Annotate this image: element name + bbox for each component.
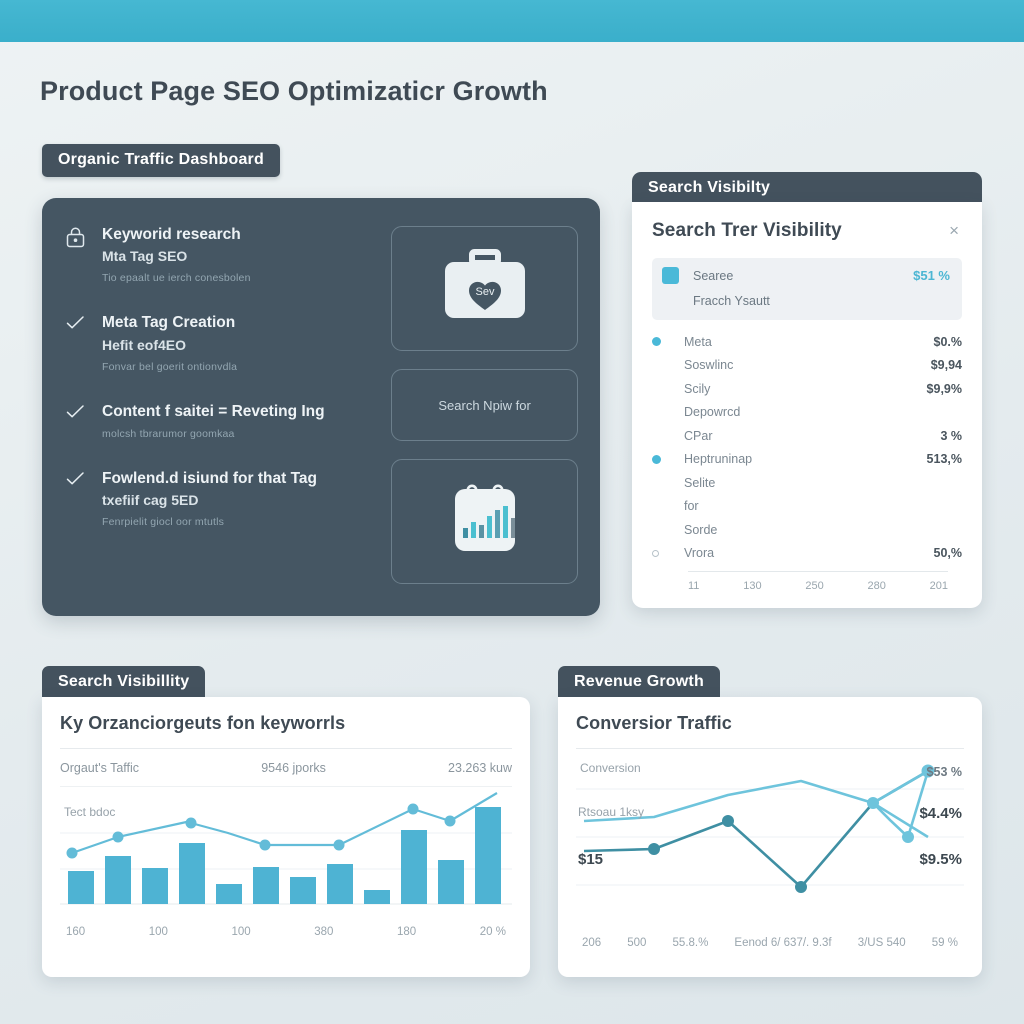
row-label: Soswlinc	[684, 358, 931, 372]
tile-search-label: Search Npiw for	[438, 398, 530, 413]
tile-clipboard-chart[interactable]	[391, 459, 578, 584]
x-tick: 3/US 540	[858, 937, 906, 949]
row-label: Scily	[684, 382, 927, 396]
highlight-label: Searee	[693, 269, 913, 283]
list-item[interactable]: Heptruninap 513,%	[652, 448, 962, 472]
tile-search[interactable]: Search Npiw for	[391, 369, 578, 441]
pill-search-visibility-bottom: Search Visibillity	[42, 666, 205, 699]
list-item[interactable]: Content f saitei = Reveting Ing molcsh t…	[66, 401, 377, 443]
divider	[60, 786, 512, 787]
bar-line-chart: Tect bdoc	[60, 791, 512, 919]
list-item[interactable]: Keyworid research Mta Tag SEO Tio epaalt…	[66, 224, 377, 287]
list-item-desc: Tio epaalt ue ierch conesbolen	[102, 270, 377, 287]
line-chart: Conversion $53 % $4.4% $9.5% $15 Rtsoau …	[576, 759, 964, 927]
divider	[60, 748, 512, 749]
list-item-desc: Fonvar bel goerit ontionvdla	[102, 359, 377, 376]
x-tick: 160	[66, 926, 85, 938]
row-label: Selite	[684, 476, 962, 490]
x-tick: 380	[314, 926, 333, 938]
x-tick: 500	[627, 937, 646, 949]
marker-icon	[652, 337, 672, 346]
list-item-subtitle: Hefit eof4EO	[102, 335, 377, 356]
list-item-title: Fowlend.d isiund for that Tag	[102, 468, 377, 490]
list-item[interactable]: Sorde	[652, 518, 962, 542]
chart-svg	[576, 759, 964, 927]
bars	[68, 807, 501, 904]
row-value: $9,9%	[927, 382, 962, 396]
meta-value-1: 9546 jporks	[261, 761, 326, 775]
trend-line	[72, 793, 497, 853]
section-label-revenue-growth: Revenue Growth	[558, 666, 720, 699]
overlay-low-left: $15	[578, 851, 603, 868]
section-label-organic-traffic: Organic Traffic Dashboard	[42, 144, 280, 177]
row-label: Depowrcd	[684, 405, 962, 419]
briefcase-heart-icon: Sev	[439, 248, 531, 329]
overlay-mid-left: Rtsoau 1ksy	[578, 805, 644, 819]
x-tick: 55.8.%	[673, 937, 709, 949]
tile-icon-label: Sev	[475, 286, 494, 298]
row-value: 50,%	[934, 546, 963, 560]
visibility-list: Meta $0.% Soswlinc $9,94 Scily $9,9% Dep…	[652, 330, 962, 565]
pill-organic-traffic: Organic Traffic Dashboard	[42, 144, 280, 177]
card-title: Conversior Traffic	[576, 713, 964, 734]
list-item-desc: Fenrpielit giocl oor mtutls	[102, 514, 377, 531]
list-item-title: Keyworid research	[102, 224, 377, 246]
list-item-subtitle: Mta Tag SEO	[102, 246, 377, 267]
list-item[interactable]: Depowrcd	[652, 401, 962, 425]
list-item[interactable]: Fowlend.d isiund for that Tag txefiif ca…	[66, 468, 377, 531]
top-accent-bar	[0, 0, 1024, 42]
close-icon[interactable]: ×	[946, 220, 962, 241]
row-label: Vrora	[684, 546, 934, 560]
x-tick: 100	[232, 926, 251, 938]
x-tick: 180	[397, 926, 416, 938]
x-tick: Eenod 6/ 637/. 9.3f	[734, 937, 831, 949]
highlighted-row[interactable]: Searee $51 % Fracch Ysautt	[652, 258, 962, 320]
row-value: 3 %	[940, 429, 962, 443]
row-label: Meta	[684, 335, 934, 349]
x-tick: 206	[582, 937, 601, 949]
trend-markers	[67, 804, 456, 859]
clipboard-chart-icon	[448, 480, 522, 563]
card-title: Ky Orzanciorgeuts fon keyworrls	[60, 713, 512, 734]
list-item[interactable]: Meta $0.%	[652, 330, 962, 354]
overlay-mid-right: $4.4%	[919, 805, 962, 822]
overlay-top-right: $53 %	[927, 765, 962, 779]
axis-ticks: 11 130 250 280 201	[688, 571, 948, 592]
marker-icon	[652, 455, 672, 464]
highlight-sub: Fracch Ysautt	[693, 294, 950, 308]
x-axis-ticks: 160 100 100 380 180 20 %	[60, 926, 512, 938]
overlay-low-right: $9.5%	[919, 851, 962, 868]
row-value: $0.%	[934, 335, 963, 349]
tile-briefcase-heart[interactable]: Sev	[391, 226, 578, 351]
list-item-title: Content f saitei = Reveting Ing	[102, 401, 377, 423]
organic-traffic-chart-card: Ky Orzanciorgeuts fon keyworrls Orgaut's…	[42, 697, 530, 977]
section-label-search-visibility-bottom: Search Visibillity	[42, 666, 205, 699]
series-label: Conversion	[580, 761, 641, 775]
axis-tick: 11	[688, 580, 699, 592]
list-item-title: Meta Tag Creation	[102, 312, 377, 334]
list-item[interactable]: Meta Tag Creation Hefit eof4EO Fonvar be…	[66, 312, 377, 375]
x-tick: 59 %	[932, 937, 958, 949]
check-icon	[66, 401, 88, 419]
meta-label: Orgaut's Taffic	[60, 761, 139, 775]
conversion-traffic-chart-card: Conversior Traffic Conversion $53 % $4.4…	[558, 697, 982, 977]
pill-search-visibility-right: Search Visibilty	[632, 172, 982, 205]
row-label: Heptruninap	[684, 452, 927, 466]
list-item-subtitle: txefiif cag 5ED	[102, 490, 377, 511]
axis-tick: 250	[805, 580, 823, 592]
tile-column: Sev Search Npiw for	[391, 224, 578, 594]
section-label-search-visibility-right: Search Visibilty	[632, 172, 982, 205]
pill-revenue-growth: Revenue Growth	[558, 666, 720, 699]
checklist: Keyworid research Mta Tag SEO Tio epaalt…	[66, 224, 377, 594]
list-item[interactable]: for	[652, 495, 962, 519]
list-item[interactable]: Scily $9,9%	[652, 377, 962, 401]
list-item[interactable]: Selite	[652, 471, 962, 495]
search-visibility-card: Search Trer Visibility × Searee $51 % Fr…	[632, 202, 982, 608]
series-dark-markers	[648, 815, 807, 893]
row-label: Sorde	[684, 523, 962, 537]
list-item[interactable]: Soswlinc $9,94	[652, 354, 962, 378]
row-label: CPar	[684, 429, 940, 443]
plot-note: Tect bdoc	[64, 805, 115, 819]
check-icon	[66, 312, 88, 330]
axis-tick: 130	[743, 580, 761, 592]
row-value: $9,94	[931, 358, 962, 372]
x-tick: 20 %	[480, 926, 506, 938]
divider	[576, 748, 964, 749]
list-item[interactable]: Vrora 50,%	[652, 542, 962, 566]
color-swatch	[662, 267, 679, 284]
axis-tick: 201	[930, 580, 948, 592]
axis-tick: 280	[867, 580, 885, 592]
list-item[interactable]: CPar 3 %	[652, 424, 962, 448]
chart-svg	[60, 791, 512, 919]
lock-icon	[66, 224, 88, 248]
page-title: Product Page SEO Optimizaticr Growth	[40, 76, 548, 107]
marker-icon	[652, 550, 672, 557]
card-title: Search Trer Visibility	[652, 220, 842, 242]
organic-traffic-panel: Keyworid research Mta Tag SEO Tio epaalt…	[42, 198, 600, 616]
highlight-value: $51 %	[913, 268, 950, 283]
x-axis-ticks: 206 500 55.8.% Eenod 6/ 637/. 9.3f 3/US …	[576, 937, 964, 949]
row-label: for	[684, 499, 962, 513]
meta-value-2: 23.263 kuw	[448, 761, 512, 775]
check-icon	[66, 468, 88, 486]
x-tick: 100	[149, 926, 168, 938]
list-item-desc: molcsh tbrarumor goomkaa	[102, 426, 377, 443]
row-value: 513,%	[927, 452, 962, 466]
card-meta: Orgaut's Taffic 9546 jporks 23.263 kuw	[60, 761, 512, 775]
